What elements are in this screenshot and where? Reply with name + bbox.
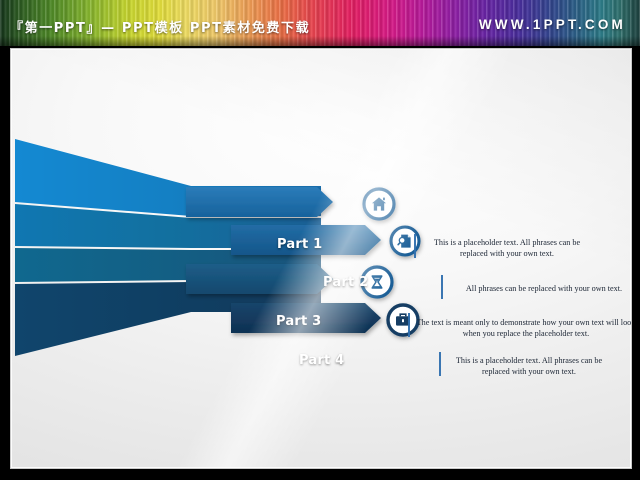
divider-4 [439, 352, 441, 376]
divider-2 [441, 275, 443, 299]
banner-url: WWW.1PPT.COM [479, 17, 626, 32]
banner-site-title: 『第一PPT』— PPT模板 PPT素材免费下载 [10, 17, 310, 36]
row-text-1: This is a placeholder text. All phrases … [423, 237, 591, 259]
row-text-2: All phrases can be replaced with your ow… [451, 283, 632, 294]
divider-3 [408, 313, 410, 337]
arrow-label-part-3: Part 3 [276, 314, 321, 329]
slide: 『第一PPT』— PPT模板 PPT素材免费下载 WWW.1PPT.COM [0, 0, 640, 480]
arrow-label-part-1: Part 1 [277, 237, 322, 252]
arrow-label-part-2: Part 2 [323, 275, 368, 290]
divider-1 [414, 234, 416, 258]
rainbow-banner: 『第一PPT』— PPT模板 PPT素材免费下载 WWW.1PPT.COM [0, 0, 640, 46]
row-text-3: The text is meant only to demonstrate ho… [415, 317, 632, 339]
home-icon [363, 188, 395, 220]
slide-canvas: Part 1 Part 2 Part 3 Part 4 This is a pl… [10, 48, 632, 469]
row-text-4: This is a placeholder text. All phrases … [445, 355, 613, 377]
arrow-label-part-4: Part 4 [299, 353, 344, 368]
